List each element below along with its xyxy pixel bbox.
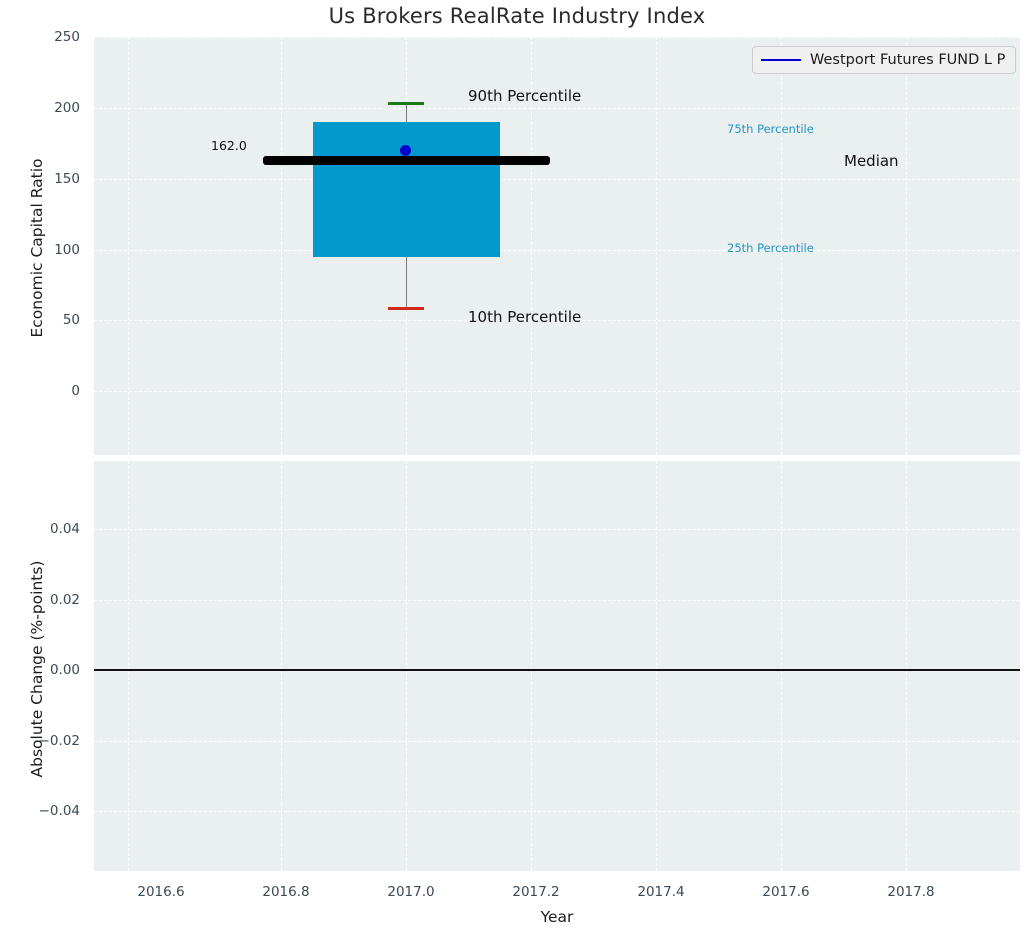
xtick-2017.8: 2017.8 <box>887 884 934 900</box>
vertical-gridline-2016.8 <box>281 37 282 455</box>
horizontal-gridline-0.04 <box>94 529 1020 530</box>
legend-label-westport: Westport Futures FUND L P <box>810 52 1005 68</box>
chart-title: Us Brokers RealRate Industry Index <box>0 4 1034 28</box>
annotation-25th-percentile: 25th Percentile <box>727 241 814 255</box>
legend[interactable]: Westport Futures FUND L P <box>752 46 1016 74</box>
fund-value-marker[interactable] <box>400 145 411 156</box>
xtick-2017.6: 2017.6 <box>762 884 809 900</box>
horizontal-gridline-0 <box>94 391 1020 392</box>
percentile-90-cap <box>388 102 424 105</box>
annotation-median: Median <box>844 152 899 170</box>
xtick-2017.2: 2017.2 <box>512 884 559 900</box>
vertical-gridline-2016.6 <box>128 37 129 455</box>
ytick-top-0: 0 <box>0 383 80 399</box>
y-axis-label-bottom: Absolute Change (%-points) <box>28 519 46 819</box>
vertical-gridline-2017.6-lower <box>781 461 782 871</box>
xtick-2016.8: 2016.8 <box>262 884 309 900</box>
vertical-gridline-2017.8-lower <box>906 461 907 871</box>
horizontal-gridline-100 <box>94 250 1020 251</box>
vertical-gridline-2017.0-lower <box>406 461 407 871</box>
horizontal-gridline-0.02 <box>94 600 1020 601</box>
xtick-2017.4: 2017.4 <box>637 884 684 900</box>
horizontal-gridline-200 <box>94 108 1020 109</box>
ytick-top-200: 200 <box>0 100 80 116</box>
annotation-75th-percentile: 75th Percentile <box>727 122 814 136</box>
horizontal-gridline-150 <box>94 179 1020 180</box>
ytick-top-250: 250 <box>0 29 80 45</box>
y-axis-label-top: Economic Capital Ratio <box>28 133 46 363</box>
xtick-2017.0: 2017.0 <box>387 884 434 900</box>
median-value-label: 162.0 <box>211 138 247 153</box>
xtick-2016.6: 2016.6 <box>137 884 184 900</box>
chart-figure: Us Brokers RealRate Industry Index 90th <box>0 0 1034 942</box>
vertical-gridline-2017.4 <box>656 37 657 455</box>
horizontal-gridline--0.02 <box>94 741 1020 742</box>
zero-reference-line <box>94 669 1020 671</box>
vertical-gridline-2017.2-lower <box>531 461 532 871</box>
median-line <box>263 156 550 165</box>
horizontal-gridline-250 <box>94 37 1020 38</box>
panel-economic-capital-ratio: 90th Percentile 10th Percentile 75th Per… <box>94 37 1020 455</box>
annotation-10th-percentile: 10th Percentile <box>468 308 581 326</box>
horizontal-gridline--0.04 <box>94 811 1020 812</box>
interquartile-box <box>313 122 500 257</box>
vertical-gridline-2017.8 <box>906 37 907 455</box>
panel-absolute-change <box>94 461 1020 871</box>
vertical-gridline-2016.8-lower <box>281 461 282 871</box>
legend-swatch-westport <box>761 59 801 61</box>
vertical-gridline-2016.6-lower <box>128 461 129 871</box>
annotation-90th-percentile: 90th Percentile <box>468 87 581 105</box>
vertical-gridline-2017.4-lower <box>656 461 657 871</box>
x-axis-label: Year <box>94 908 1020 926</box>
percentile-10-cap <box>388 307 424 310</box>
